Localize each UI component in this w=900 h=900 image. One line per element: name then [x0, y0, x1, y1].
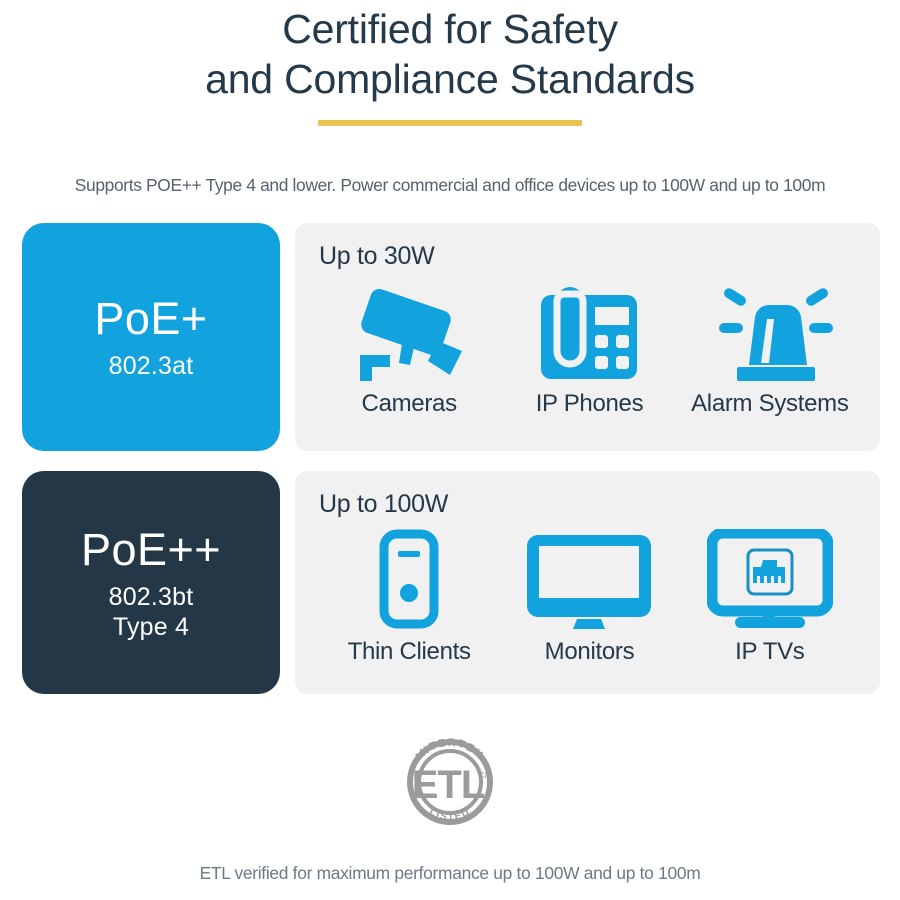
header: Certified for Safety and Compliance Stan…	[0, 0, 900, 126]
ip-tv-icon	[707, 525, 833, 629]
page-title-line-2: and Compliance Standards	[0, 54, 900, 104]
poe-plus-badge: PoE+ 802.3at	[22, 223, 280, 451]
thin-client-icon	[377, 525, 441, 629]
monitor-icon	[525, 525, 653, 629]
device-label-thin-clients: Thin Clients	[348, 638, 471, 666]
poe-plusplus-power-heading: Up to 100W	[319, 489, 860, 519]
poe-plus-badge-standard: 802.3at	[109, 351, 194, 381]
poe-plus-power-heading: Up to 30W	[319, 241, 860, 271]
device-label-ip-tvs: IP TVs	[735, 638, 804, 666]
device-label-monitors: Monitors	[545, 638, 635, 666]
etl-listed-intertek-logo: INTERTEK LISTED ETL CM	[391, 722, 509, 840]
security-camera-icon	[350, 277, 468, 381]
ip-phone-icon	[539, 277, 639, 381]
subtitle-text: Supports POE++ Type 4 and lower. Power c…	[0, 174, 900, 196]
poe-plusplus-device-list: Thin Clients Monitors	[319, 525, 860, 666]
device-item-cameras: Cameras	[319, 277, 499, 418]
poe-plus-device-list: Cameras	[319, 277, 860, 418]
poe-plusplus-badge-title: PoE++	[81, 524, 221, 576]
certification-note: ETL verified for maximum performance up …	[200, 862, 701, 884]
svg-text:ETL: ETL	[412, 763, 485, 807]
poe-plus-row: PoE+ 802.3at Up to 30W	[22, 223, 880, 451]
device-item-ip-phones: IP Phones	[499, 277, 679, 418]
poe-plusplus-standard-line-2: Type 4	[109, 612, 194, 642]
certification-area: INTERTEK LISTED ETL CM ETL verified for …	[0, 722, 900, 884]
poe-plusplus-standard-line-1: 802.3bt	[109, 582, 194, 612]
poe-plus-devices-panel: Up to 30W Cameras	[295, 223, 880, 451]
device-label-alarm-systems: Alarm Systems	[691, 390, 848, 418]
poe-plusplus-badge: PoE++ 802.3bt Type 4	[22, 471, 280, 694]
poe-plusplus-row: PoE++ 802.3bt Type 4 Up to 100W T	[22, 471, 880, 694]
device-item-alarm-systems: Alarm Systems	[680, 277, 860, 418]
svg-text:CM: CM	[479, 771, 492, 780]
poe-tier-rows: PoE+ 802.3at Up to 30W	[0, 223, 900, 694]
page-title-line-1: Certified for Safety	[0, 4, 900, 54]
device-item-thin-clients: Thin Clients	[319, 525, 499, 666]
device-item-monitors: Monitors	[499, 525, 679, 666]
alarm-light-icon	[705, 277, 835, 381]
poe-plusplus-devices-panel: Up to 100W Thin Clients	[295, 471, 880, 694]
title-accent-bar	[318, 120, 582, 126]
poe-plusplus-badge-standard: 802.3bt Type 4	[109, 582, 194, 642]
poe-plus-badge-title: PoE+	[94, 293, 207, 345]
device-label-ip-phones: IP Phones	[536, 390, 644, 418]
device-label-cameras: Cameras	[362, 390, 457, 418]
device-item-ip-tvs: IP TVs	[680, 525, 860, 666]
